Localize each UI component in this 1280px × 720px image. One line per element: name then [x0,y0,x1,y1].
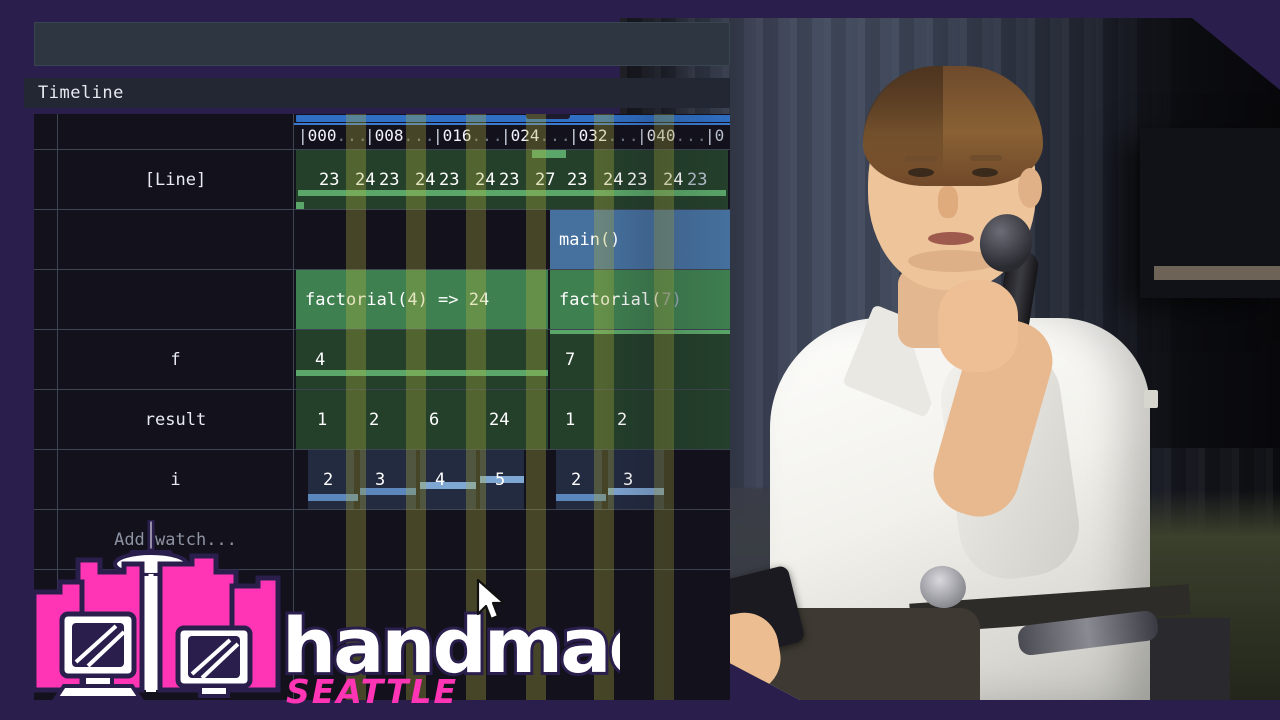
line-value[interactable]: 23 [490,150,524,209]
line-track[interactable]: 23 24 23 24 23 24 23 27 23 24 23 24 23 [294,150,730,209]
ruler-tick-4: |032... [569,126,639,145]
row-gutter [34,330,58,389]
speaker-ear [1018,168,1042,208]
row-gutter [34,210,58,269]
callstack-row-factorial[interactable]: factorial(4) => 24 factorial(7) [34,270,730,330]
line-value[interactable]: 23 [430,150,464,209]
crt-monitor-icon [178,628,250,696]
line-value[interactable]: 23 [618,150,652,209]
ruler-tick-2: |016... [433,126,503,145]
result-value[interactable]: 2 [608,390,648,449]
speaker-eye-left [908,168,934,177]
i-value[interactable]: 3 [366,450,406,509]
row-gutter [34,150,58,209]
line-value[interactable]: 23 [370,150,404,209]
factorial-running-prefix: factorial( [559,290,661,310]
result-track[interactable]: 1 2 6 24 1 2 [294,390,730,449]
line-value[interactable]: 23 [310,150,344,209]
i-value[interactable]: 3 [614,450,654,509]
result-value[interactable]: 2 [360,390,400,449]
row-label-empty [58,270,294,329]
row-label-f: f [58,330,294,389]
f-value[interactable]: 7 [556,330,596,389]
f-track[interactable]: 4 7 [294,330,730,389]
line-row[interactable]: [Line] 23 24 23 24 23 24 23 27 23 24 23 … [34,150,730,210]
line-start-marker [296,202,304,209]
row-gutter [34,114,58,149]
row-gutter [34,390,58,449]
call-block-main[interactable]: main() [550,210,730,269]
i-track[interactable]: 2 3 4 5 2 3 [294,450,730,509]
factorial-call-track[interactable]: factorial(4) => 24 factorial(7) [294,270,730,329]
speaker-mouth [928,232,974,245]
result-value[interactable]: 1 [556,390,596,449]
row-gutter [34,270,58,329]
ruler-tick-6: |0 [705,126,724,145]
ruler-tick-1: |008... [365,126,435,145]
timeline-panel-title: Timeline [24,78,730,108]
line-value[interactable]: 27 [526,150,560,209]
speaker-eyebrow-right [970,155,1002,161]
logo-subtitle: SEATTLE [286,672,458,710]
row-label-empty [58,210,294,269]
crt-monitor-icon [56,614,140,698]
mouse-cursor [475,578,509,624]
var-row-f[interactable]: f 4 7 [34,330,730,390]
row-label-line: [Line] [58,150,294,209]
result-value[interactable]: 6 [420,390,460,449]
call-block-factorial-running[interactable]: factorial(7) [550,270,730,329]
callstack-row-main[interactable]: main() [34,210,730,270]
result-value[interactable]: 24 [480,390,526,449]
handmade-seattle-logo: handmade SEATTLE [20,520,620,710]
i-value[interactable]: 2 [314,450,354,509]
row-label-result: result [58,390,294,449]
call-block-factorial-done[interactable]: factorial(4) => 24 [296,270,548,329]
ruler-track[interactable]: |000... |008... |016... |024... |032... … [294,114,730,149]
speaker-nose [938,186,958,218]
row-label-empty [58,114,294,149]
row-label-i: i [58,450,294,509]
var-row-i[interactable]: i 2 3 4 5 2 3 [34,450,730,510]
speaker-eyebrow-left [905,156,937,162]
speaker-hand-upper [938,280,1018,372]
top-toolbar-panel[interactable] [34,22,730,66]
line-value[interactable]: 23 [558,150,592,209]
var-row-result[interactable]: result 1 2 6 24 1 2 [34,390,730,450]
ruler-tick-5: |040... [637,126,707,145]
speaker-pocket [1144,390,1158,408]
i-value[interactable]: 4 [426,450,466,509]
ruler-labels: |000... |008... |016... |024... |032... … [294,114,730,149]
main-call-track[interactable]: main() [294,210,730,269]
result-value[interactable]: 1 [308,390,348,449]
i-value[interactable]: 5 [486,450,526,509]
stage-piano-keys [1154,266,1280,280]
row-gutter [34,450,58,509]
f-value[interactable]: 4 [306,330,346,389]
ruler-tick-3: |024... [501,126,571,145]
speaker-eye-right [972,168,998,177]
ruler-tick-0: |000... [298,126,368,145]
timeline-ruler-row: |000... |008... |016... |024... |032... … [34,114,730,150]
line-value[interactable]: 23 [678,150,712,209]
i-value[interactable]: 2 [562,450,602,509]
factorial-running-arg: 7) [661,290,681,310]
